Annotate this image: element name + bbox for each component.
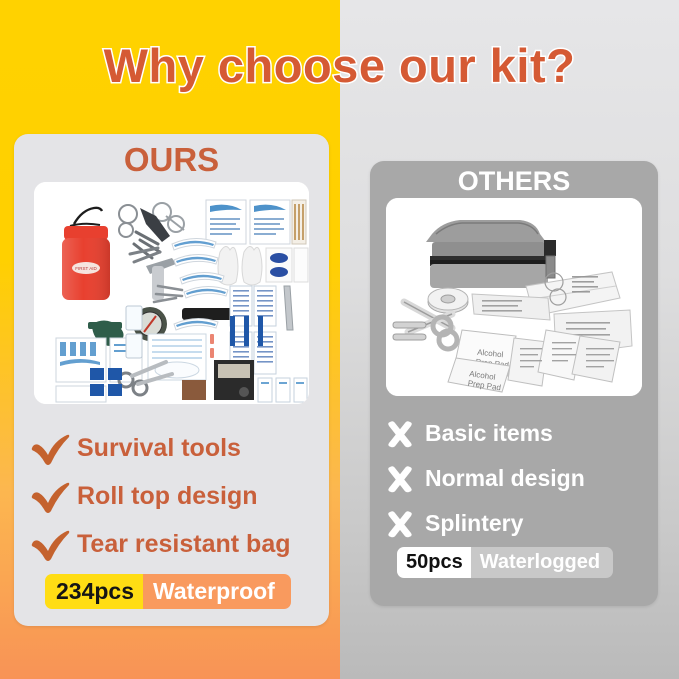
x-mark-icon bbox=[384, 418, 416, 450]
ours-badge-text: Waterproof bbox=[143, 574, 291, 609]
ours-badge-count: 234pcs bbox=[45, 574, 143, 609]
others-badge-count: 50pcs bbox=[397, 547, 471, 578]
others-feature-item: Normal design bbox=[384, 456, 672, 501]
others-product-photo: Alcohol Prep Pad Alcohol Prep Pad bbox=[386, 198, 642, 396]
check-mark-icon bbox=[28, 431, 72, 465]
others-kit-illustration: Alcohol Prep Pad Alcohol Prep Pad bbox=[386, 198, 642, 396]
x-mark-icon bbox=[384, 508, 416, 540]
ours-feature-item: Roll top design bbox=[28, 472, 343, 520]
check-mark-icon bbox=[28, 479, 72, 513]
ours-panel: OURS FIRST AID bbox=[14, 134, 329, 626]
others-panel: OTHERS bbox=[370, 161, 658, 606]
others-feature-label: Normal design bbox=[425, 465, 585, 492]
ours-product-photo: FIRST AID bbox=[34, 182, 309, 404]
others-feature-list: Basic items Normal design Splintery bbox=[384, 411, 672, 546]
ours-feature-item: Survival tools bbox=[28, 424, 343, 472]
ours-feature-item: Tear resistant bag bbox=[28, 520, 343, 568]
others-feature-label: Basic items bbox=[425, 420, 553, 447]
ours-feature-list: Survival tools Roll top design Tear resi… bbox=[28, 424, 343, 568]
x-mark-icon bbox=[384, 463, 416, 495]
comparison-infographic: Why choose our kit? OURS FIRST AID bbox=[0, 0, 679, 679]
ours-badge: 234pcs Waterproof bbox=[45, 574, 291, 609]
check-mark-icon bbox=[28, 527, 72, 561]
others-heading: OTHERS bbox=[370, 166, 658, 197]
ours-feature-label: Tear resistant bag bbox=[77, 530, 291, 559]
others-badge-text: Waterlogged bbox=[471, 547, 613, 578]
others-feature-label: Splintery bbox=[425, 510, 523, 537]
page-title: Why choose our kit? bbox=[0, 38, 679, 93]
others-feature-item: Splintery bbox=[384, 501, 672, 546]
ours-kit-illustration: FIRST AID bbox=[34, 182, 309, 404]
others-badge: 50pcs Waterlogged bbox=[397, 547, 613, 578]
ours-heading: OURS bbox=[14, 141, 329, 179]
ours-feature-label: Roll top design bbox=[77, 482, 258, 511]
svg-text:FIRST AID: FIRST AID bbox=[75, 266, 97, 271]
ours-feature-label: Survival tools bbox=[77, 434, 241, 463]
others-feature-item: Basic items bbox=[384, 411, 672, 456]
